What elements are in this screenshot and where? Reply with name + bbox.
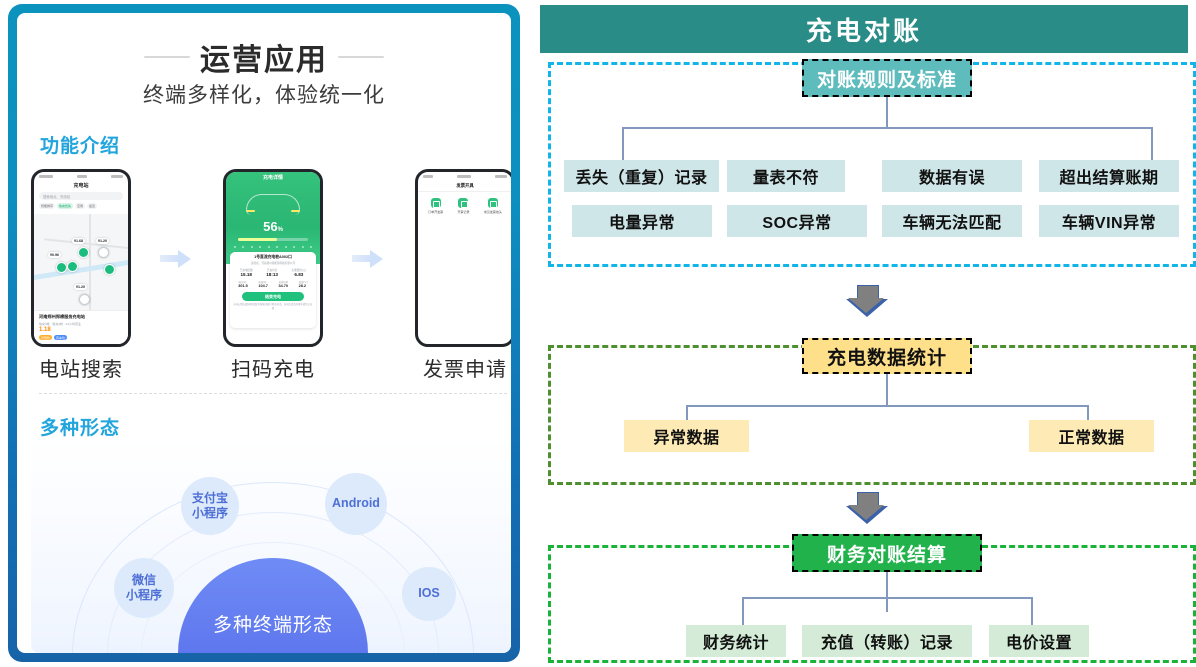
phone3-title: 发票开具 [418,180,511,192]
phone-mockup-station-search: 充电站 搜索地点、充电站 智能排序 快充优先 空闲 最近 [31,169,131,347]
phone1-filter-chips: 智能排序 快充优先 空闲 最近 [34,201,128,211]
map-pin-2[interactable] [56,262,67,273]
phone3-battery-blob [495,175,507,178]
phone3-time-blob [457,175,471,178]
left-panel-inner: 运营应用 终端多样化，体验统一化 功能介绍 充电站 [17,13,511,653]
stage1-branch-right [1151,127,1153,162]
title-rule-right [338,56,384,58]
down-arrow-icon-1 [846,285,888,319]
phone-captions-row: 电站搜索 扫码充电 发票申请 [31,353,511,382]
station-name: 河南郑州郑棉服务充电站 [39,314,123,320]
stage1-branch-left [622,127,624,162]
stat-energy-value: 15.18 [240,272,253,277]
bubble-wechat-line2: 小程序 [126,588,162,603]
phone3-back-blob [423,175,433,178]
map-price-3[interactable]: ¥0.96 [48,252,61,258]
phone-mockups-row: 充电站 搜索地点、充电站 智能排序 快充优先 空闲 最近 [31,168,511,348]
stat-fee-value: 6.83 [292,272,307,277]
stat-temp: 温度(℃) 28.2 [299,280,308,288]
stage1-item-soc-anomaly[interactable]: SOC异常 [727,205,867,237]
map-price-1[interactable]: ¥1.68 [72,238,85,244]
phone1-station-card[interactable]: 河南郑州郑棉服务充电站 快充3枪 · 慢充2枪 · 24小时营业 1.18 可预… [34,310,128,344]
stage1-bus [622,127,1152,129]
station-price: 1.18 [39,327,123,333]
tag-bookable: 可预约 [39,335,52,340]
page-subtitle: 终端多样化，体验统一化 [17,79,511,109]
down-arrow-icon-2 [846,492,888,526]
stage2-item-abnormal-data[interactable]: 异常数据 [624,420,749,452]
caption-invoice-apply: 发票申请 [415,353,511,382]
operation-title-row: 运营应用 [17,35,511,79]
stage2-bus [686,405,1088,407]
invoice-entry-history-label: 开票记录 [457,210,469,214]
left-panel: 运营应用 终端多样化，体验统一化 功能介绍 充电站 [8,4,520,662]
stage3-branch-right [1031,597,1033,625]
section-label-forms: 多种形态 [40,413,120,440]
terminal-forms-diagram: 多种终端形态 微信 小程序 支付宝 小程序 Android IOS [31,438,511,653]
stage1-item-lost-record[interactable]: 丢失（重复）记录 [564,160,719,192]
bubble-alipay-miniprogram[interactable]: 支付宝 小程序 [181,477,239,535]
stage2-item-normal-data[interactable]: 正常数据 [1029,420,1154,452]
map-pin-active[interactable] [78,247,89,258]
stat-duration: 已充时长 18:13 [266,268,278,277]
caption-spacer-2 [352,353,386,382]
bubble-android-label: Android [332,496,380,512]
phone1-navbar: 充电站 [34,180,128,191]
stat-duration-value: 18:13 [266,272,278,277]
stat-current-value: 104.7 [258,284,268,288]
stage1-item-overdue-settlement[interactable]: 超出结算账期 [1039,160,1179,192]
map-price-2[interactable]: ¥1.20 [96,238,109,244]
caption-station-search: 电站搜索 [31,353,131,382]
phone2-navbar: 充电详情 [226,172,320,183]
phone2-hero: 充电详情 56% [226,172,320,264]
phone2-detail-card: 1号直流充电桩A002口 运营商：河南郑州新能源科技有限公司 已充电度数 15.… [230,252,316,328]
stat-energy: 已充电度数 15.18 [240,268,253,277]
title-rule-left [144,56,190,58]
stage1-item-meter-mismatch[interactable]: 量表不符 [727,160,845,192]
poster-root: 运营应用 终端多样化，体验统一化 功能介绍 充电站 [0,0,1196,667]
phone2-footer-note: 充电过程如遇问题请联系客服或拨打紧急电话，充电后请及时挪车避免占位费 [233,303,313,310]
battery-blob [111,175,123,178]
phone1-title: 充电站 [73,182,88,189]
caption-scan-charge: 扫码充电 [223,353,323,382]
stage3-item-price-setting[interactable]: 电价设置 [989,625,1089,657]
phone3-statusbar [418,172,511,180]
stage3-node[interactable]: 财务对账结算 [792,534,982,572]
charge-percent-value: 56 [263,219,277,234]
section-divider [39,393,507,394]
phone2-title: 充电详情 [263,174,283,181]
bubble-ios-label: IOS [418,586,440,602]
flow-arrow-icon-1 [160,248,194,268]
stage1-item-power-anomaly[interactable]: 电量异常 [572,205,712,237]
phone-mockup-charging: 充电详情 56% 1号直流充电桩A002 [223,169,323,347]
stage3-branch-left [742,597,744,625]
stage1-node[interactable]: 对账规则及标准 [802,59,972,97]
invoice-entry-history[interactable]: 开票记录 [457,198,469,214]
phone1-search-placeholder: 搜索地点、充电站 [43,194,70,199]
stage3-trunk [886,572,888,612]
chip-fastcharge[interactable]: 快充优先 [57,203,73,209]
invoice-title-icon [488,198,498,208]
phone1-statusbar [34,172,128,180]
chip-free[interactable]: 空闲 [75,203,85,209]
charger-operator: 运营商：河南郑州新能源科技有限公司 [233,261,313,265]
invoice-entry-title-label: 常见发票抬头 [484,210,502,214]
map-pin-6[interactable] [79,294,90,305]
station-tags: 可预约 有车位 [39,335,123,340]
stage1-trunk [886,97,888,128]
section-label-features: 功能介绍 [40,131,120,158]
stat-power-value: 34.70 [278,284,288,288]
right-panel: 充电对账 对账规则及标准 丢失（重复）记录 量表不符 数据有误 超出结算账期 电… [534,0,1196,667]
carrier-blob [39,175,53,178]
stage3-item-finance-stats[interactable]: 财务统计 [686,625,786,657]
invoice-entry-order[interactable]: 订单开发票 [428,198,443,214]
invoice-entry-order-label: 订单开发票 [428,210,443,214]
chip-sort[interactable]: 智能排序 [39,203,55,209]
stat-temp-value: 28.2 [299,284,308,288]
charge-stats-primary: 已充电度数 15.18 已充时长 18:13 实收费用(元) 6.83 [233,268,313,277]
time-blob [77,175,87,178]
invoice-history-icon [458,198,468,208]
invoice-entry-title[interactable]: 常见发票抬头 [484,198,502,214]
stage3-item-topup-record[interactable]: 充值（转账）记录 [802,625,972,657]
tag-parking: 有车位 [54,335,67,340]
bubble-wechat-miniprogram[interactable]: 微信 小程序 [114,558,174,618]
stat-power: 充电功率 34.70 [278,280,288,288]
phone1-search-input[interactable]: 搜索地点、充电站 [39,192,123,200]
stage3-bus [742,597,1032,599]
bubble-alipay-line2: 小程序 [192,506,228,521]
charge-percent: 56% [226,219,320,234]
stage2-node[interactable]: 充电数据统计 [802,338,972,374]
phone3-entry-grid: 订单开发票 开票记录 常见发票抬头 [418,192,511,214]
stage1-item-vin-anomaly[interactable]: 车辆VIN异常 [1039,205,1179,237]
stat-voltage: 电压(V) 301.5 [238,280,248,288]
station-meta: 快充3枪 · 慢充2枪 · 24小时营业 [39,322,123,326]
map-pin-4[interactable] [104,264,115,275]
bubble-wechat-line1: 微信 [132,573,156,588]
map-river [31,256,131,281]
map-price-4[interactable]: ¥1.20 [74,284,87,290]
bubble-alipay-line1: 支付宝 [192,491,228,506]
stage2-trunk [886,374,888,406]
map-pin-3[interactable] [67,261,78,272]
bubble-ios[interactable]: IOS [402,567,456,621]
invoice-order-icon [431,198,441,208]
stop-charging-button[interactable]: 结束充电 [242,292,304,301]
charge-percent-unit: % [278,227,283,233]
charge-progress-bar [238,238,308,241]
page-title: 运营应用 [200,35,328,79]
flow-header-title: 充电对账 [540,5,1188,53]
charger-title: 1号直流充电桩A002口 [233,255,313,260]
stat-fee: 实收费用(元) 6.83 [292,268,307,277]
flow-arrow-icon-2 [352,248,386,268]
terminal-forms-center-label: 多种终端形态 [213,610,333,653]
chip-nearest[interactable]: 最近 [87,203,97,209]
phone1-map[interactable]: ¥1.68 ¥1.20 ¥0.96 ¥1.20 [34,214,128,310]
caption-spacer-1 [160,353,194,382]
stat-voltage-value: 301.5 [238,284,248,288]
stat-current: 电流(A) 104.7 [258,280,268,288]
stage1-item-data-error[interactable]: 数据有误 [882,160,1022,192]
charge-stats-secondary: 电压(V) 301.5 电流(A) 104.7 充电功率 34.70 [233,280,313,288]
bubble-android[interactable]: Android [325,473,387,535]
map-pin-5[interactable] [98,247,109,258]
charge-tick-dots [234,246,312,248]
phone-mockup-invoice: 发票开具 订单开发票 开票记录 常见发票抬头 [415,169,511,347]
stage1-item-vehicle-unmatched[interactable]: 车辆无法匹配 [882,205,1022,237]
